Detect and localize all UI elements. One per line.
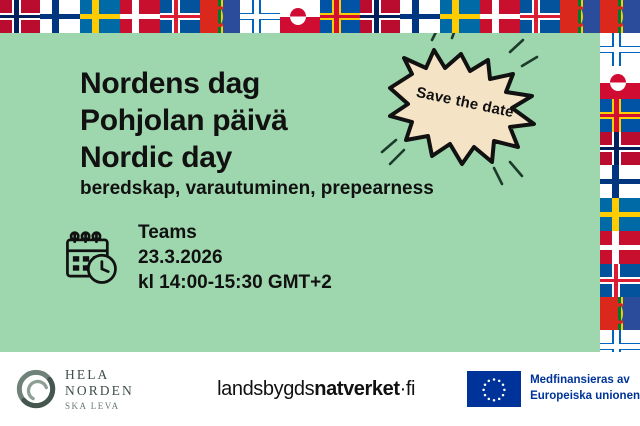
flag-aland <box>600 99 640 132</box>
logo-hela-norden: HELA NORDEN SKA LEVA <box>16 367 175 411</box>
poster-canvas: Nordens dag Pohjolan päivä Nordic day be… <box>0 0 640 426</box>
flag-finland <box>400 0 440 33</box>
event-text-lines: Teams 23.3.2026 kl 14:00-15:30 GMT+2 <box>138 220 332 295</box>
flag-iceland <box>520 0 560 33</box>
event-details: Teams 23.3.2026 kl 14:00-15:30 GMT+2 <box>62 220 332 295</box>
flag-finland <box>600 165 640 198</box>
poster-subtitle: beredskap, varautuminen, prepearness <box>80 178 434 200</box>
event-date: 23.3.2026 <box>138 245 332 270</box>
flag-norway <box>360 0 400 33</box>
nordic-flags-right-column <box>600 0 640 352</box>
save-the-date-badge: Save the date <box>382 44 540 169</box>
flag-sweden <box>600 198 640 231</box>
eu-funding-text: Medfinansieras av Europeiska unionen <box>530 373 640 404</box>
logo-landsbygdsnatverket: landsbygdsnatverket·fi <box>217 378 415 401</box>
calendar-clock-icon <box>62 229 120 287</box>
flag-faroe-islands <box>240 0 280 33</box>
flag-denmark <box>120 0 160 33</box>
flag-sami <box>600 297 640 330</box>
flag-sami <box>560 0 600 33</box>
swirl-circle-logo-icon <box>16 369 56 409</box>
flag-sami <box>200 0 240 33</box>
heading-finnish: Pohjolan päivä <box>80 103 288 140</box>
heading-swedish: Nordens dag <box>80 66 288 103</box>
eu-flag-icon <box>467 371 521 407</box>
poster-headings: Nordens dag Pohjolan päivä Nordic day <box>80 66 288 177</box>
eu-funding-line1: Medfinansieras av <box>530 373 640 389</box>
landsbygds-prefix: landsbygds <box>217 378 314 400</box>
nordic-flags-top-banner <box>0 0 640 33</box>
flag-sweden <box>440 0 480 33</box>
flag-faroe-islands <box>600 330 640 352</box>
natverket-bold: natverket <box>314 378 399 400</box>
flag-denmark <box>480 0 520 33</box>
footer-logos: HELA NORDEN SKA LEVA landsbygdsnatverket… <box>0 352 640 426</box>
flag-finland <box>40 0 80 33</box>
landsbygds-suffix: ·fi <box>400 378 415 400</box>
flag-greenland <box>280 0 320 33</box>
flag-greenland <box>600 66 640 99</box>
flag-iceland <box>600 264 640 297</box>
eu-funding-line2: Europeiska unionen <box>530 389 640 405</box>
flag-norway <box>600 132 640 165</box>
flag-faroe-islands <box>600 33 640 66</box>
event-platform: Teams <box>138 220 332 245</box>
flag-denmark <box>600 231 640 264</box>
flag-iceland <box>160 0 200 33</box>
flag-sami <box>600 0 640 33</box>
hela-norden-wordmark: HELA NORDEN SKA LEVA <box>65 367 175 411</box>
flag-norway <box>0 0 40 33</box>
event-time: kl 14:00-15:30 GMT+2 <box>138 270 332 295</box>
flag-aland <box>320 0 360 33</box>
flag-sweden <box>80 0 120 33</box>
heading-english: Nordic day <box>80 140 288 177</box>
logo-eu-funding: Medfinansieras av Europeiska unionen <box>467 371 640 407</box>
hela-norden-subtitle: SKA LEVA <box>65 401 175 411</box>
hela-norden-title: HELA NORDEN <box>65 367 175 399</box>
